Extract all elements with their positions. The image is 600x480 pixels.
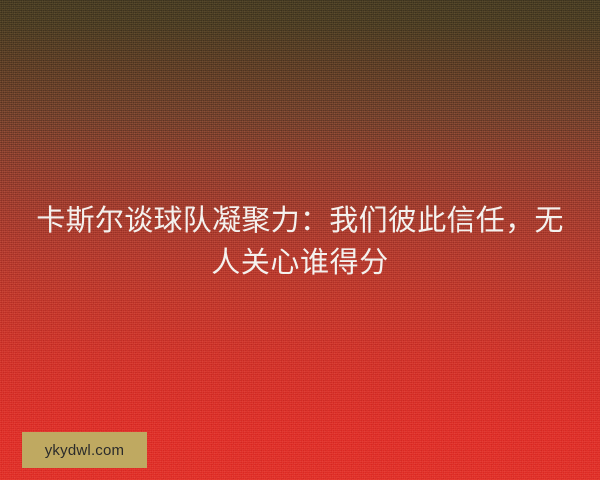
title-line-2: 人关心谁得分 (28, 242, 572, 284)
title-line-1: 卡斯尔谈球队凝聚力：我们彼此信任，无 (28, 200, 572, 242)
watermark-label: ykydwl.com (45, 443, 125, 458)
watermark-badge: ykydwl.com (22, 432, 147, 468)
page-title: 卡斯尔谈球队凝聚力：我们彼此信任，无 人关心谁得分 (28, 200, 572, 284)
title-card: 卡斯尔谈球队凝聚力：我们彼此信任，无 人关心谁得分 ykydwl.com (0, 0, 600, 480)
